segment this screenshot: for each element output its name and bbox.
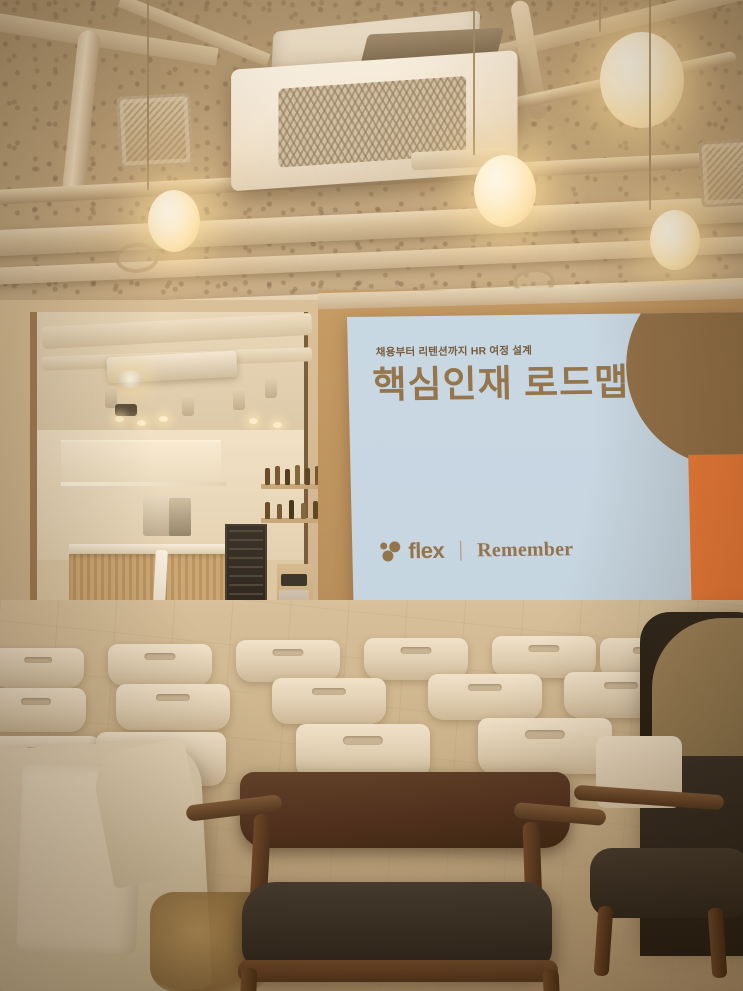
slide-circle-shape bbox=[624, 312, 743, 467]
ice-machine-panel bbox=[281, 574, 307, 586]
track-spotlight bbox=[265, 376, 277, 398]
recessed-downlight bbox=[273, 422, 282, 428]
track-light-glow bbox=[117, 370, 143, 388]
lit-wall-niche bbox=[61, 440, 221, 486]
chair-seat-rail bbox=[238, 960, 558, 982]
lamp-globe bbox=[650, 210, 700, 270]
cafe-ceiling bbox=[37, 312, 304, 432]
lamp-cord bbox=[649, 0, 651, 210]
bottle bbox=[265, 502, 270, 519]
ceiling-vent-icon bbox=[116, 93, 194, 169]
cafe-air-duct bbox=[42, 313, 313, 349]
bottle bbox=[313, 501, 318, 519]
bottle bbox=[265, 468, 270, 485]
bottle bbox=[285, 469, 290, 485]
chair-seat-leather bbox=[242, 882, 552, 970]
lamp-globe bbox=[600, 32, 684, 128]
remember-wordmark: Remember bbox=[477, 538, 574, 562]
logo-divider bbox=[460, 541, 461, 561]
lamp-globe bbox=[148, 190, 200, 252]
slide-subtitle: 채용부터 리텐션까지 HR 여정 설계 bbox=[376, 343, 533, 360]
lamp-cord bbox=[147, 0, 149, 190]
lamp-globe bbox=[474, 155, 536, 227]
recessed-downlight bbox=[249, 418, 258, 424]
bottle bbox=[277, 504, 282, 519]
flex-wordmark: flex bbox=[408, 538, 445, 564]
coffee-grinder bbox=[169, 498, 191, 536]
recessed-downlight bbox=[137, 420, 146, 426]
track-spotlight bbox=[233, 388, 245, 410]
bottle bbox=[275, 466, 280, 485]
track-spotlight bbox=[182, 394, 194, 416]
chair-leg bbox=[708, 908, 728, 979]
projection-screen: 채용부터 리텐션까지 HR 여정 설계 핵심인재 로드맵 flex Rememb… bbox=[347, 312, 743, 609]
flex-logo: flex bbox=[380, 538, 445, 565]
bottle bbox=[295, 465, 300, 485]
slide-accent-block bbox=[688, 454, 743, 605]
ceiling-vent-icon bbox=[698, 138, 743, 207]
niche-light-strip bbox=[61, 482, 226, 486]
room-photo-scene: 채용부터 리텐션까지 HR 여정 설계 핵심인재 로드맵 flex Rememb… bbox=[0, 0, 743, 991]
slide-title: 핵심인재 로드맵 bbox=[372, 362, 630, 408]
bottle bbox=[315, 466, 318, 485]
recessed-downlight bbox=[159, 416, 168, 422]
lamp-cord bbox=[473, 0, 475, 155]
flex-dots-icon bbox=[380, 541, 402, 561]
bottle bbox=[289, 500, 294, 519]
wood-armchair-foreground bbox=[214, 772, 644, 991]
bottle bbox=[301, 503, 306, 519]
recessed-downlight bbox=[115, 416, 124, 422]
slide-logo-row: flex Remember bbox=[380, 536, 574, 564]
lamp-cord bbox=[599, 0, 601, 32]
chair-leg bbox=[542, 970, 561, 991]
track-spotlight-shade bbox=[115, 404, 137, 416]
decorative-column bbox=[178, 440, 190, 498]
chair-leg bbox=[238, 968, 257, 991]
bottle bbox=[305, 468, 310, 485]
bar-countertop bbox=[69, 544, 229, 554]
